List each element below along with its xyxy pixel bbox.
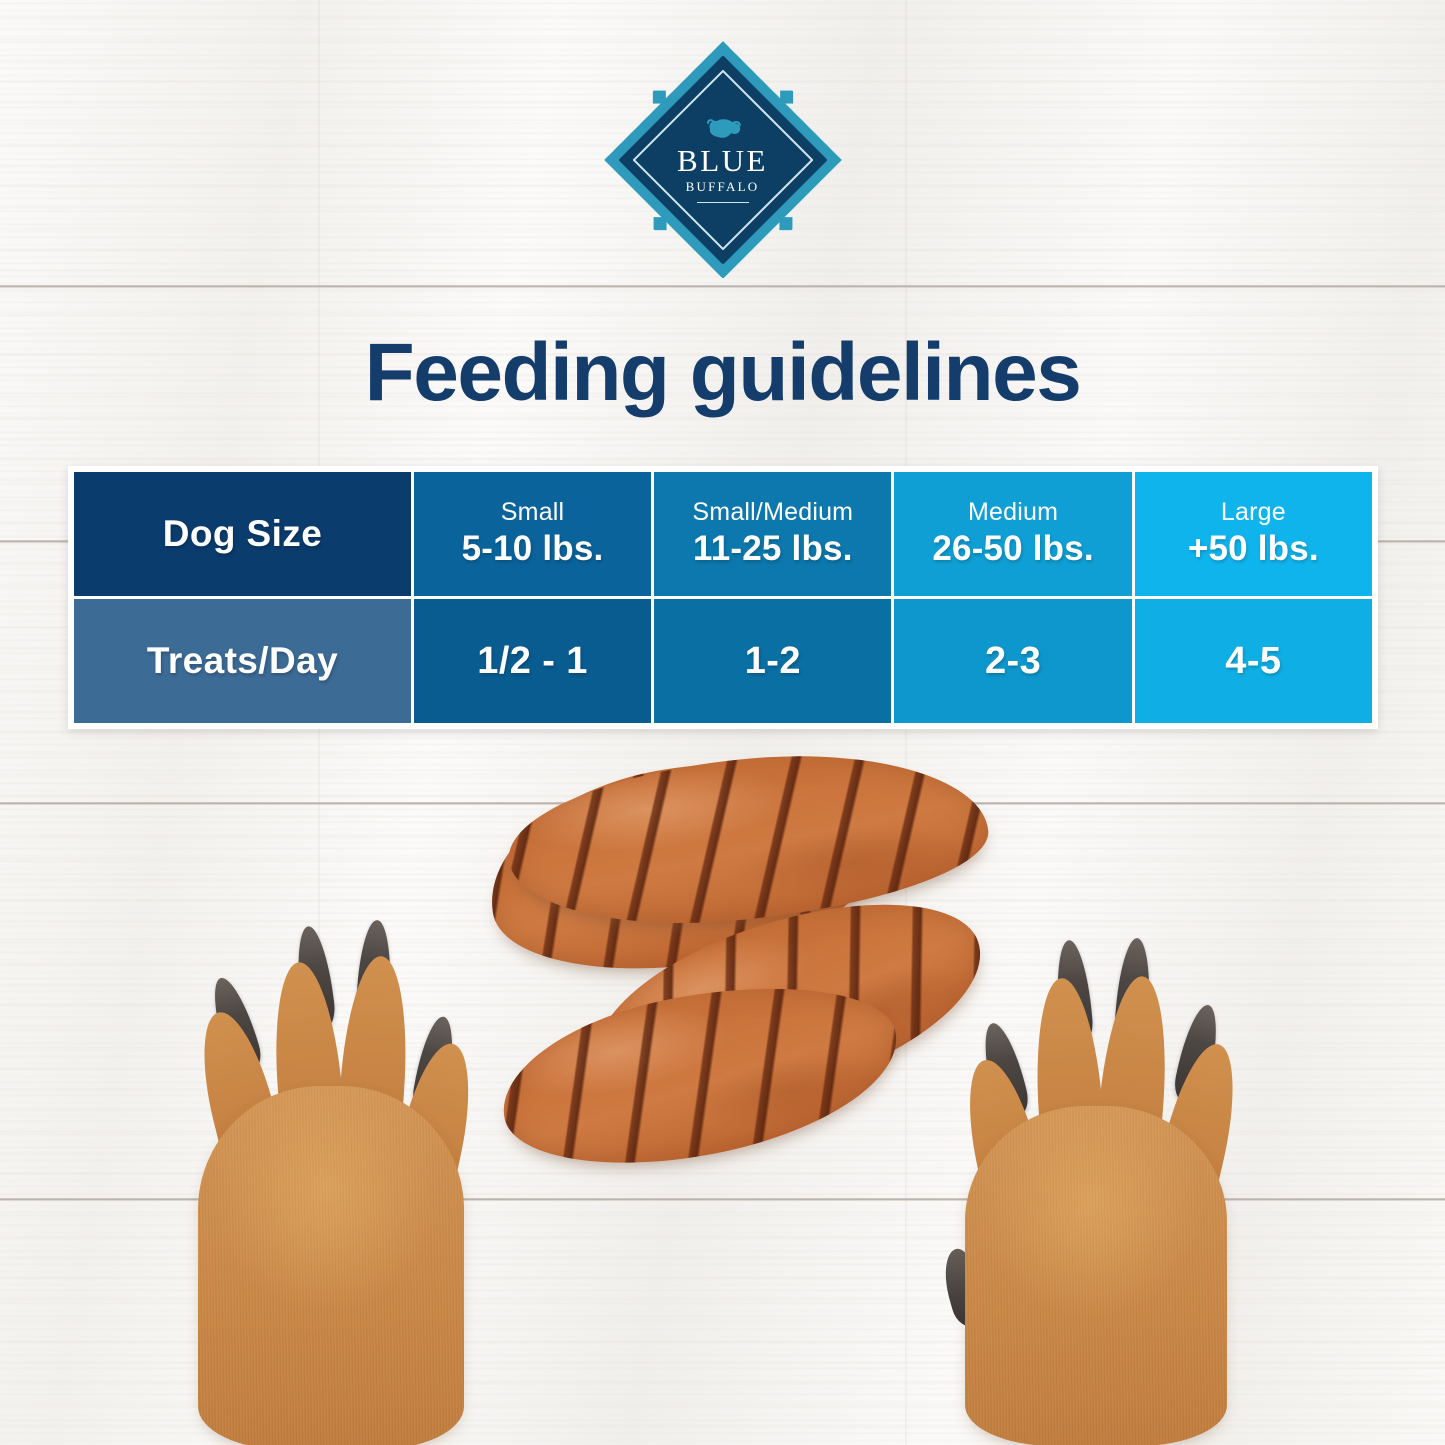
page-title: Feeding guidelines xyxy=(0,332,1445,414)
weight-range: 5-10 lbs. xyxy=(414,528,651,570)
paw-pad xyxy=(198,1086,464,1445)
row-header-label: Treats/Day xyxy=(74,640,411,682)
size-label: Large xyxy=(1135,498,1372,527)
table-row-treats-per-day: Treats/Day 1/2 - 1 1-2 2-3 4-5 xyxy=(74,599,1372,723)
row-header-label: Dog Size xyxy=(74,513,411,555)
dog-paw-left xyxy=(190,890,500,1445)
weight-range: 11-25 lbs. xyxy=(654,528,891,570)
header-cell-large: Large +50 lbs. xyxy=(1135,472,1372,596)
weight-range: 26-50 lbs. xyxy=(894,528,1131,570)
treats-value: 2-3 xyxy=(894,640,1131,683)
dog-paw-right xyxy=(945,930,1255,1445)
treats-value: 1/2 - 1 xyxy=(414,640,651,683)
size-label: Medium xyxy=(894,498,1131,527)
logo-accent-dot xyxy=(779,217,792,230)
weight-range: +50 lbs. xyxy=(1135,528,1372,570)
table-row-dog-size: Dog Size Small 5-10 lbs. Small/Medium 11… xyxy=(74,472,1372,596)
treats-value: 4-5 xyxy=(1135,640,1372,683)
paw-pad xyxy=(965,1106,1227,1445)
value-cell-medium: 2-3 xyxy=(894,599,1131,723)
blue-buffalo-logo: BLUE BUFFALO xyxy=(625,62,821,258)
row-header-dog-size: Dog Size xyxy=(74,472,411,596)
treat-strip xyxy=(489,961,911,1188)
poster-canvas: BLUE BUFFALO Feeding guidelines Dog Size… xyxy=(0,0,1445,1445)
size-label: Small/Medium xyxy=(654,498,891,527)
header-cell-small: Small 5-10 lbs. xyxy=(414,472,651,596)
value-cell-small-medium: 1-2 xyxy=(654,599,891,723)
logo-diamond-shape xyxy=(584,21,861,298)
value-cell-large: 4-5 xyxy=(1135,599,1372,723)
feeding-guidelines-table: Dog Size Small 5-10 lbs. Small/Medium 11… xyxy=(68,466,1378,729)
value-cell-small: 1/2 - 1 xyxy=(414,599,651,723)
treats-value: 1-2 xyxy=(654,640,891,683)
header-cell-medium: Medium 26-50 lbs. xyxy=(894,472,1131,596)
size-label: Small xyxy=(414,498,651,527)
logo-accent-dot xyxy=(653,217,666,230)
logo-accent-dot xyxy=(780,91,793,104)
row-header-treats-day: Treats/Day xyxy=(74,599,411,723)
header-cell-small-medium: Small/Medium 11-25 lbs. xyxy=(654,472,891,596)
logo-accent-dot xyxy=(652,91,665,104)
